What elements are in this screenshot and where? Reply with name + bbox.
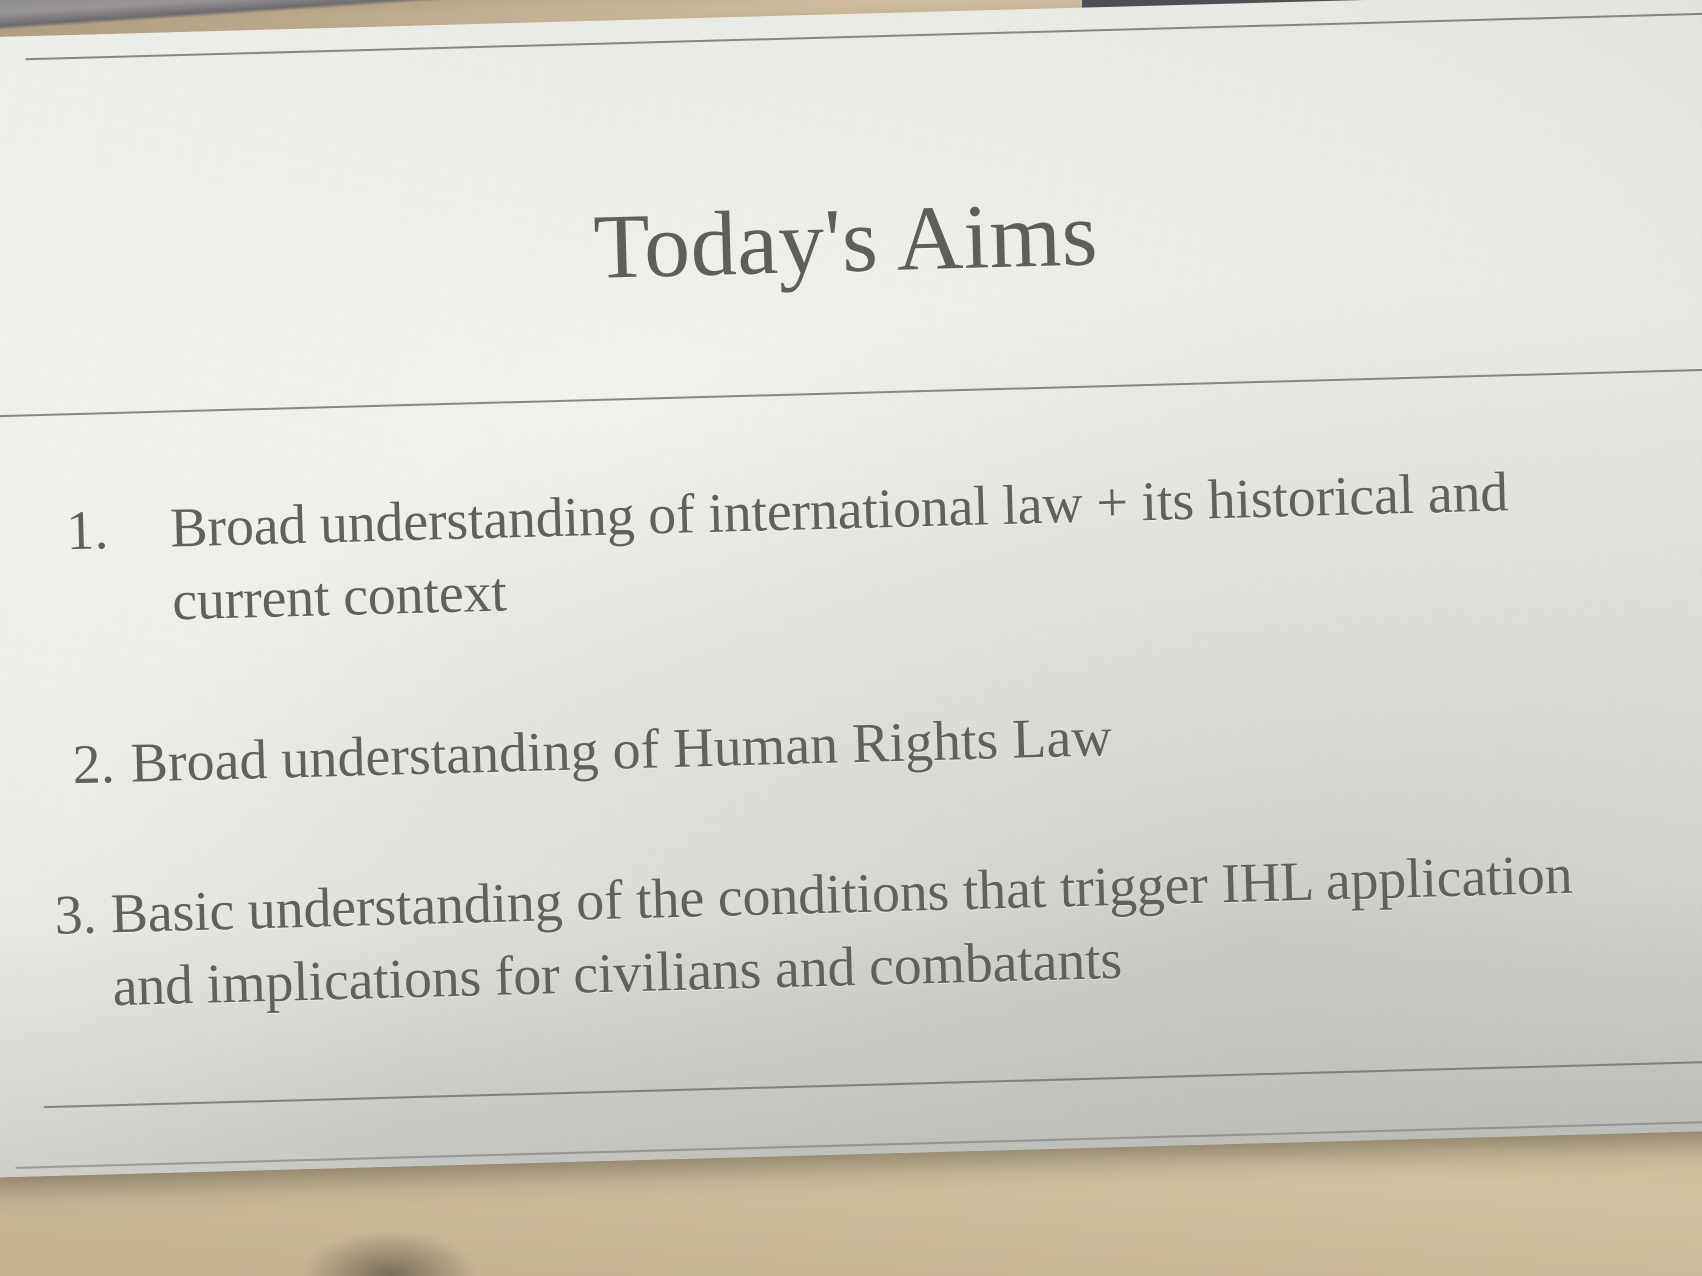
list-item: 3. Basic understanding of the conditions…	[54, 837, 1649, 1026]
list-item: 2. Broad understanding of Human Rights L…	[72, 686, 1665, 802]
list-item-text: Basic understanding of the conditions th…	[110, 837, 1649, 1024]
list-item-number: 3.	[54, 879, 112, 953]
list-item-number: 2.	[72, 727, 132, 801]
list-item-text: Broad understanding of international law…	[169, 452, 1660, 638]
list-item-text: Broad understanding of Human Rights Law	[130, 686, 1665, 800]
slide-photo: Today's Aims 1. Broad understanding of i…	[0, 0, 1702, 1276]
slide-body: 1. Broad understanding of international …	[65, 452, 1673, 1091]
slide-title-divider	[0, 368, 1702, 417]
list-item-number: 1.	[65, 493, 171, 569]
list-item: 1. Broad understanding of international …	[65, 452, 1660, 641]
slide-title: Today's Aims	[0, 170, 1702, 310]
presentation-slide: Today's Aims 1. Broad understanding of i…	[0, 0, 1702, 1178]
slide-surface: Today's Aims 1. Broad understanding of i…	[0, 0, 1702, 1178]
